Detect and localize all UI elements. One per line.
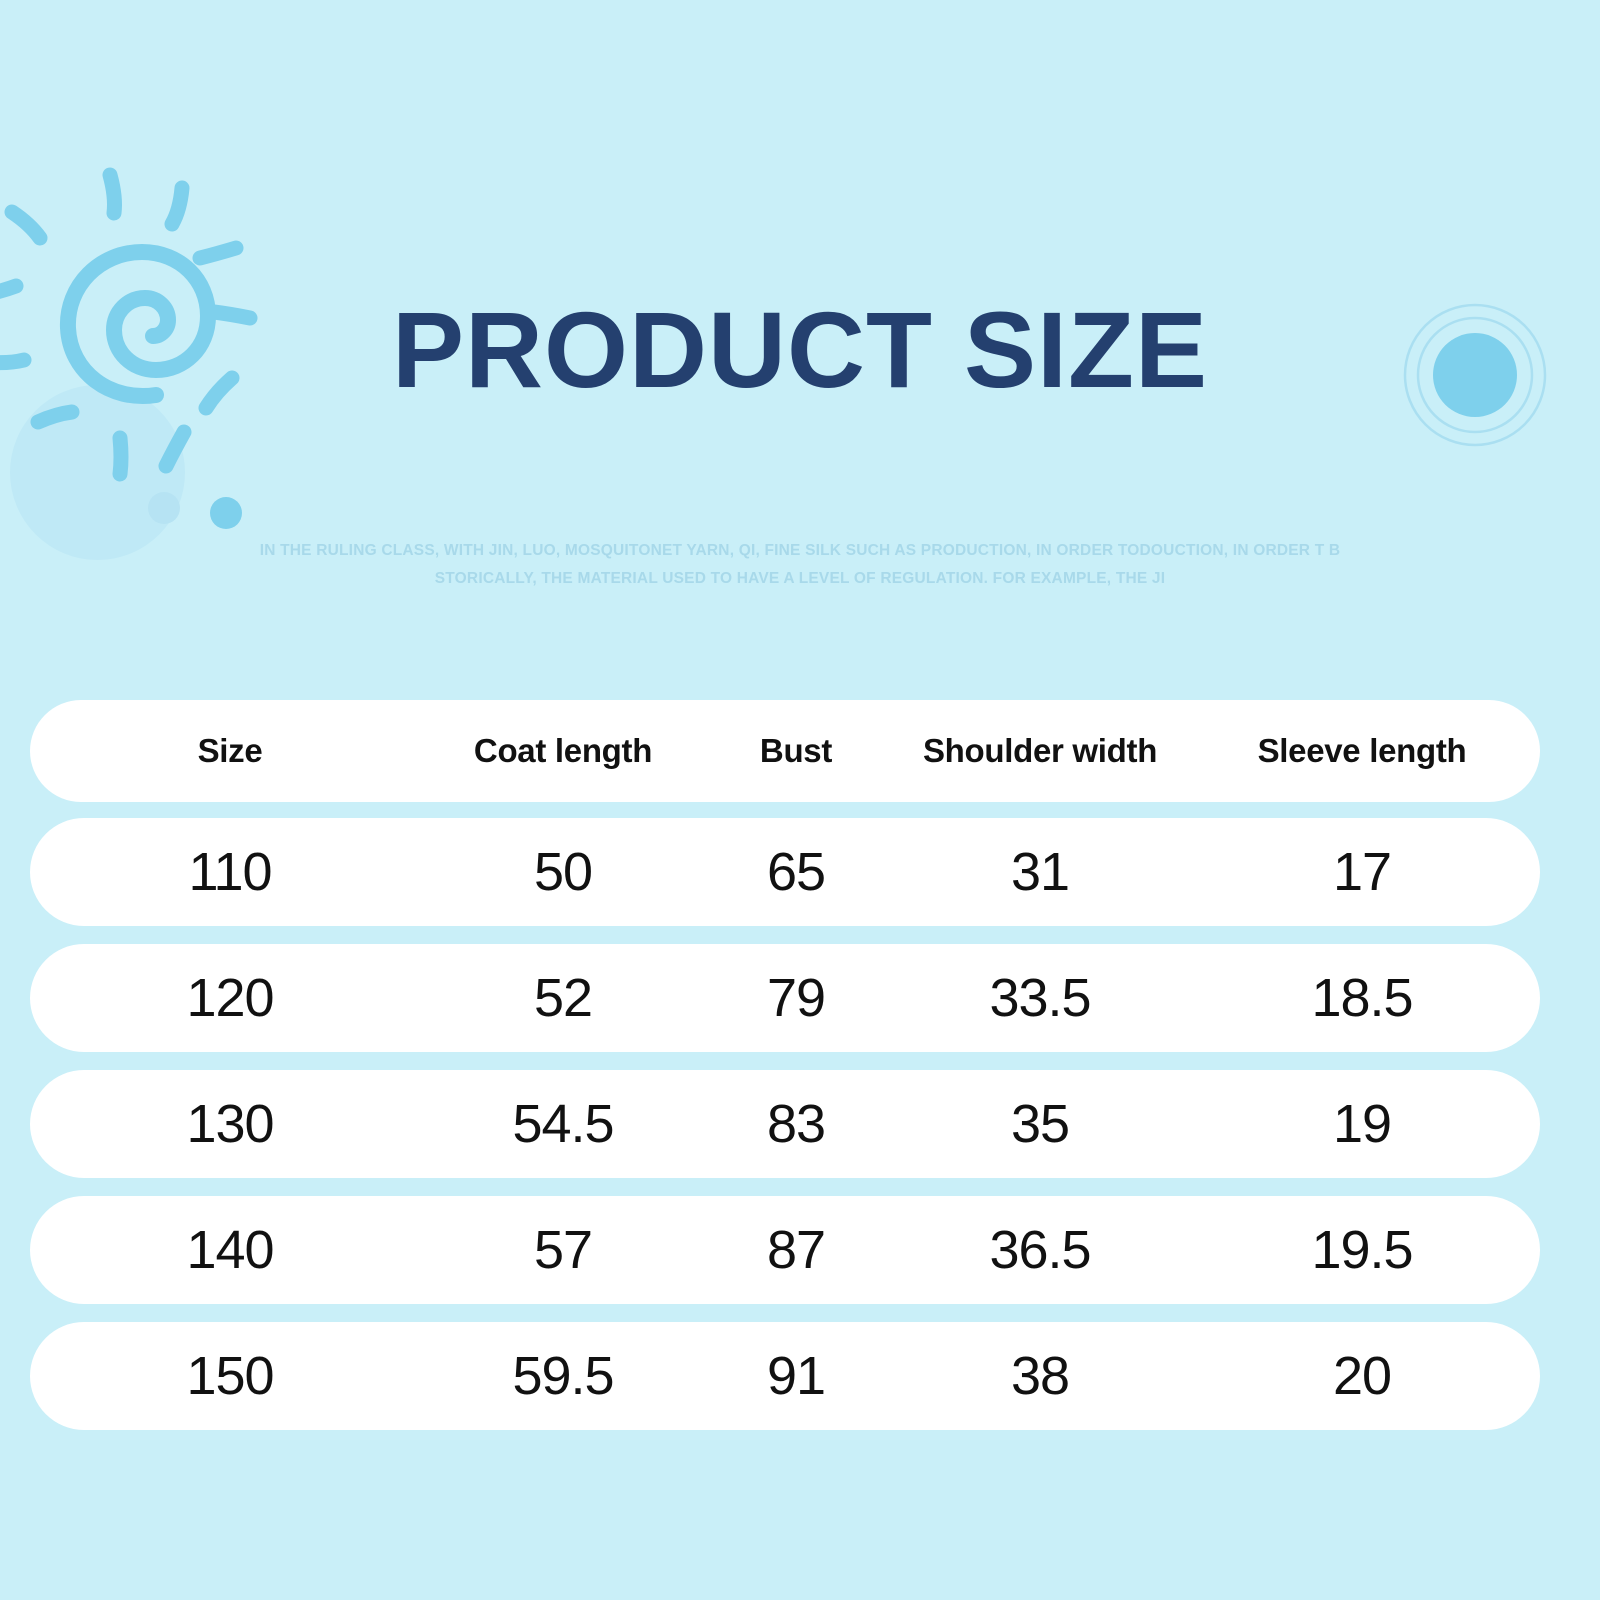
cell-bust: 79 xyxy=(696,969,896,1027)
table-row: 110 50 65 31 17 xyxy=(30,818,1540,926)
cell-coat-length: 54.5 xyxy=(430,1095,696,1153)
cell-shoulder-width: 38 xyxy=(896,1347,1184,1405)
table-row: 130 54.5 83 35 19 xyxy=(30,1070,1540,1178)
cell-sleeve-length: 18.5 xyxy=(1184,969,1540,1027)
cell-shoulder-width: 33.5 xyxy=(896,969,1184,1027)
small-dot-light xyxy=(148,492,180,524)
cell-shoulder-width: 31 xyxy=(896,843,1184,901)
cell-size: 140 xyxy=(30,1221,430,1279)
column-header-sleeve-length: Sleeve length xyxy=(1184,732,1540,770)
cell-sleeve-length: 19 xyxy=(1184,1095,1540,1153)
table-row: 140 57 87 36.5 19.5 xyxy=(30,1196,1540,1304)
subtitle-line-1: IN THE RULING CLASS, WITH JIN, LUO, MOSQ… xyxy=(0,537,1600,565)
table-row: 150 59.5 91 38 20 xyxy=(30,1322,1540,1430)
cell-sleeve-length: 17 xyxy=(1184,843,1540,901)
cell-shoulder-width: 36.5 xyxy=(896,1221,1184,1279)
size-table: Size Coat length Bust Shoulder width Sle… xyxy=(30,700,1540,1448)
cell-size: 150 xyxy=(30,1347,430,1405)
cell-size: 130 xyxy=(30,1095,430,1153)
column-header-size: Size xyxy=(30,732,430,770)
cell-size: 110 xyxy=(30,843,430,901)
cell-sleeve-length: 19.5 xyxy=(1184,1221,1540,1279)
cell-coat-length: 57 xyxy=(430,1221,696,1279)
cell-size: 120 xyxy=(30,969,430,1027)
soft-circle-shape xyxy=(10,385,185,560)
table-row: 120 52 79 33.5 18.5 xyxy=(30,944,1540,1052)
cell-bust: 87 xyxy=(696,1221,896,1279)
cell-bust: 83 xyxy=(696,1095,896,1153)
cell-coat-length: 52 xyxy=(430,969,696,1027)
cell-bust: 91 xyxy=(696,1347,896,1405)
cell-bust: 65 xyxy=(696,843,896,901)
table-header-row: Size Coat length Bust Shoulder width Sle… xyxy=(30,700,1540,802)
cell-coat-length: 50 xyxy=(430,843,696,901)
column-header-coat-length: Coat length xyxy=(430,732,696,770)
cell-coat-length: 59.5 xyxy=(430,1347,696,1405)
subtitle: IN THE RULING CLASS, WITH JIN, LUO, MOSQ… xyxy=(0,537,1600,593)
cell-shoulder-width: 35 xyxy=(896,1095,1184,1153)
page-title: PRODUCT SIZE xyxy=(0,292,1600,409)
column-header-bust: Bust xyxy=(696,732,896,770)
subtitle-line-2: STORICALLY, THE MATERIAL USED TO HAVE A … xyxy=(0,565,1600,593)
cell-sleeve-length: 20 xyxy=(1184,1347,1540,1405)
column-header-shoulder-width: Shoulder width xyxy=(896,732,1184,770)
small-dot-accent xyxy=(210,497,242,529)
